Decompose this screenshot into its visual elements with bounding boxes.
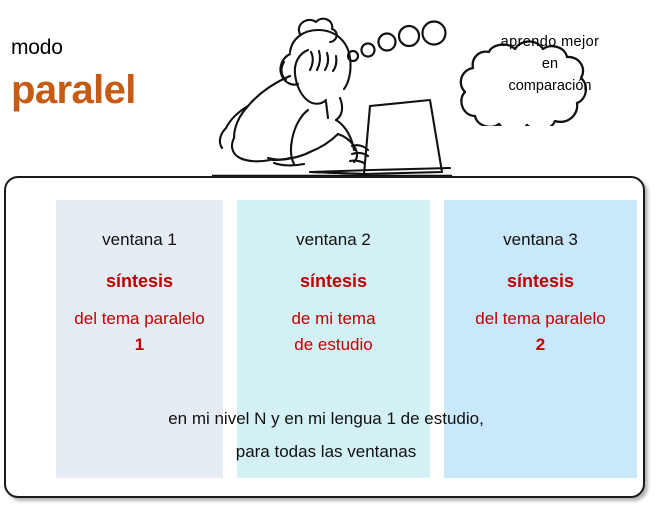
column-1-desc-line-1: del tema paralelo (56, 306, 223, 332)
column-3-window-label: ventana 3 (444, 230, 637, 250)
diagram-footer-note: en mi nivel N y en mi lengua 1 de estudi… (26, 402, 626, 468)
column-2: ventana 2 síntesis de mi tema de estudio (237, 200, 430, 380)
column-2-desc-line-2: de estudio (237, 332, 430, 358)
mode-name-title: paralel (11, 68, 136, 113)
column-1-description: del tema paralelo 1 (56, 306, 223, 358)
column-3-desc-line-1: del tema paralelo (444, 306, 637, 332)
column-3-description: del tema paralelo 2 (444, 306, 637, 358)
parallel-mode-frame: ventana 1 síntesis del tema paralelo 1 v… (4, 176, 645, 498)
column-2-heading: síntesis (237, 271, 430, 292)
footer-line-1: en mi nivel N y en mi lengua 1 de estudi… (26, 402, 626, 435)
column-3-desc-line-2: 2 (444, 332, 637, 358)
thought-line-2: en (460, 53, 640, 75)
header: modo paralel (0, 0, 657, 176)
column-1-desc-line-2: 1 (56, 332, 223, 358)
column-2-description: de mi tema de estudio (237, 306, 430, 358)
thought-bubble-dots-icon (346, 14, 456, 66)
thought-line-1: aprendo mejor (460, 31, 640, 53)
column-1-window-label: ventana 1 (56, 230, 223, 250)
footer-line-2: para todas las ventanas (26, 435, 626, 468)
column-2-desc-line-1: de mi tema (237, 306, 430, 332)
column-1-heading: síntesis (56, 271, 223, 292)
column-3: ventana 3 síntesis del tema paralelo 2 (444, 200, 637, 380)
column-1: ventana 1 síntesis del tema paralelo 1 (56, 200, 223, 380)
mode-prefix-label: modo (11, 36, 63, 60)
column-3-heading: síntesis (444, 271, 637, 292)
thought-line-3: comparación (460, 75, 640, 97)
column-2-window-label: ventana 2 (237, 230, 430, 250)
thought-bubble-text: aprendo mejor en comparación (460, 31, 640, 97)
